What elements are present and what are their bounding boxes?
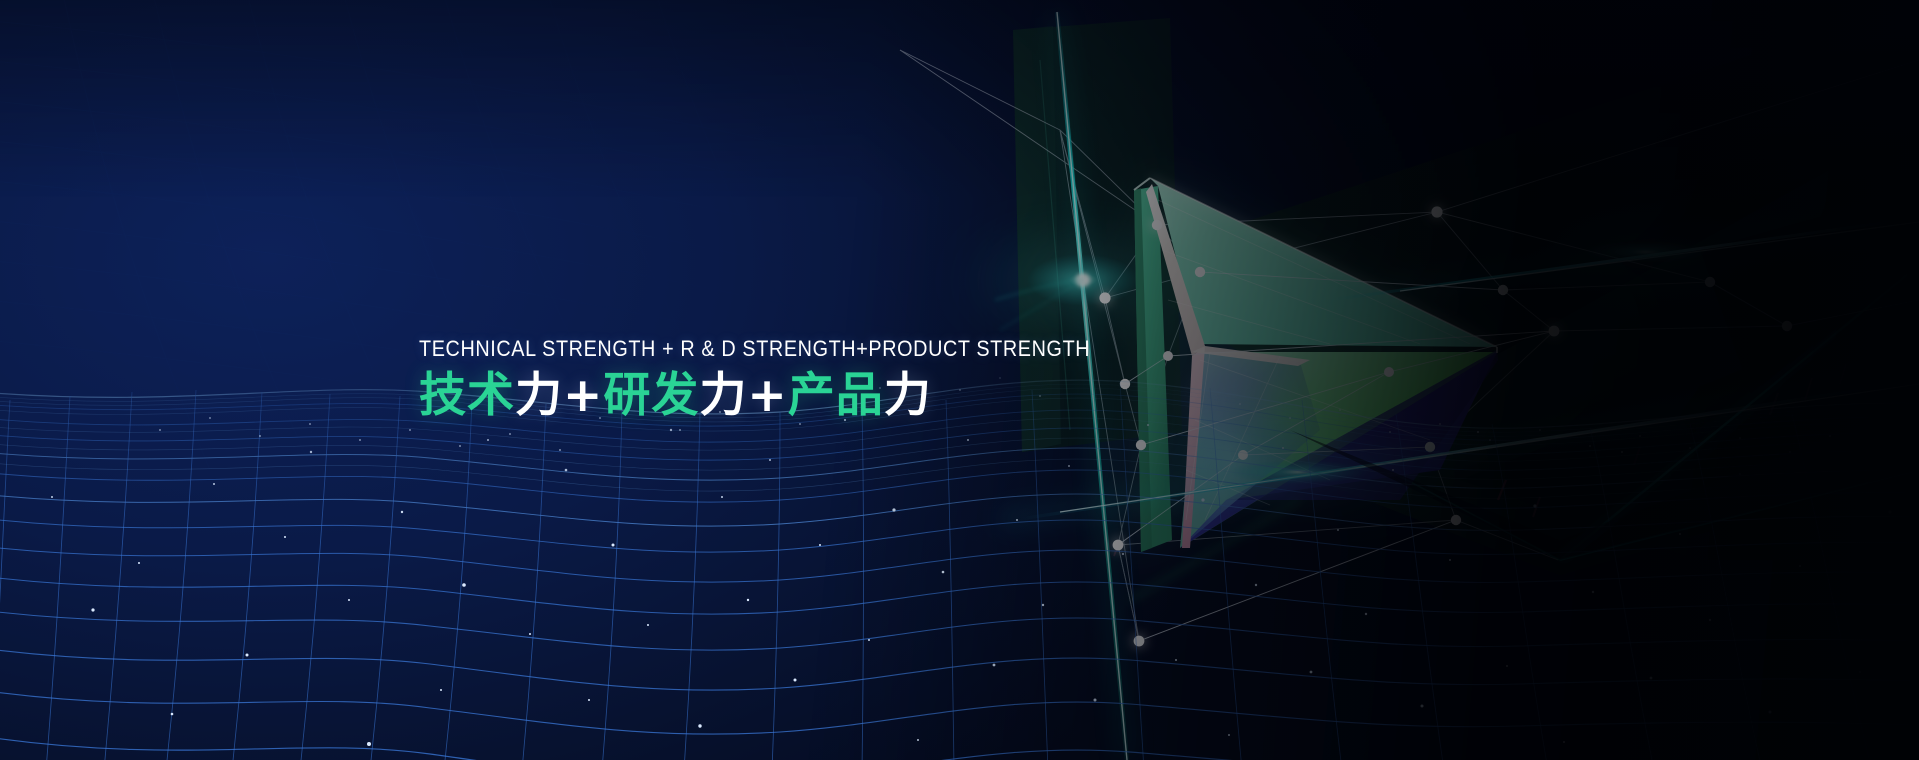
headline-block: TECHNICAL STRENGTH + R & D STRENGTH+PROD… <box>419 336 1182 424</box>
headline-part-5: + <box>747 368 787 423</box>
headline-part-6: 产品 <box>788 368 884 423</box>
eyebrow-text: TECHNICAL STRENGTH + R & D STRENGTH+PROD… <box>419 336 1090 362</box>
headline-part-4: 力 <box>699 368 747 423</box>
headline-part-7: 力 <box>884 368 932 423</box>
headline-part-2: + <box>563 368 603 423</box>
headline-text: 技术力+研发力+产品力 <box>419 368 1182 424</box>
headline-part-0: 技术 <box>419 368 515 423</box>
hero-banner: TECHNICAL STRENGTH + R & D STRENGTH+PROD… <box>0 0 1919 760</box>
headline-part-1: 力 <box>515 368 563 423</box>
headline-part-3: 研发 <box>603 368 699 423</box>
